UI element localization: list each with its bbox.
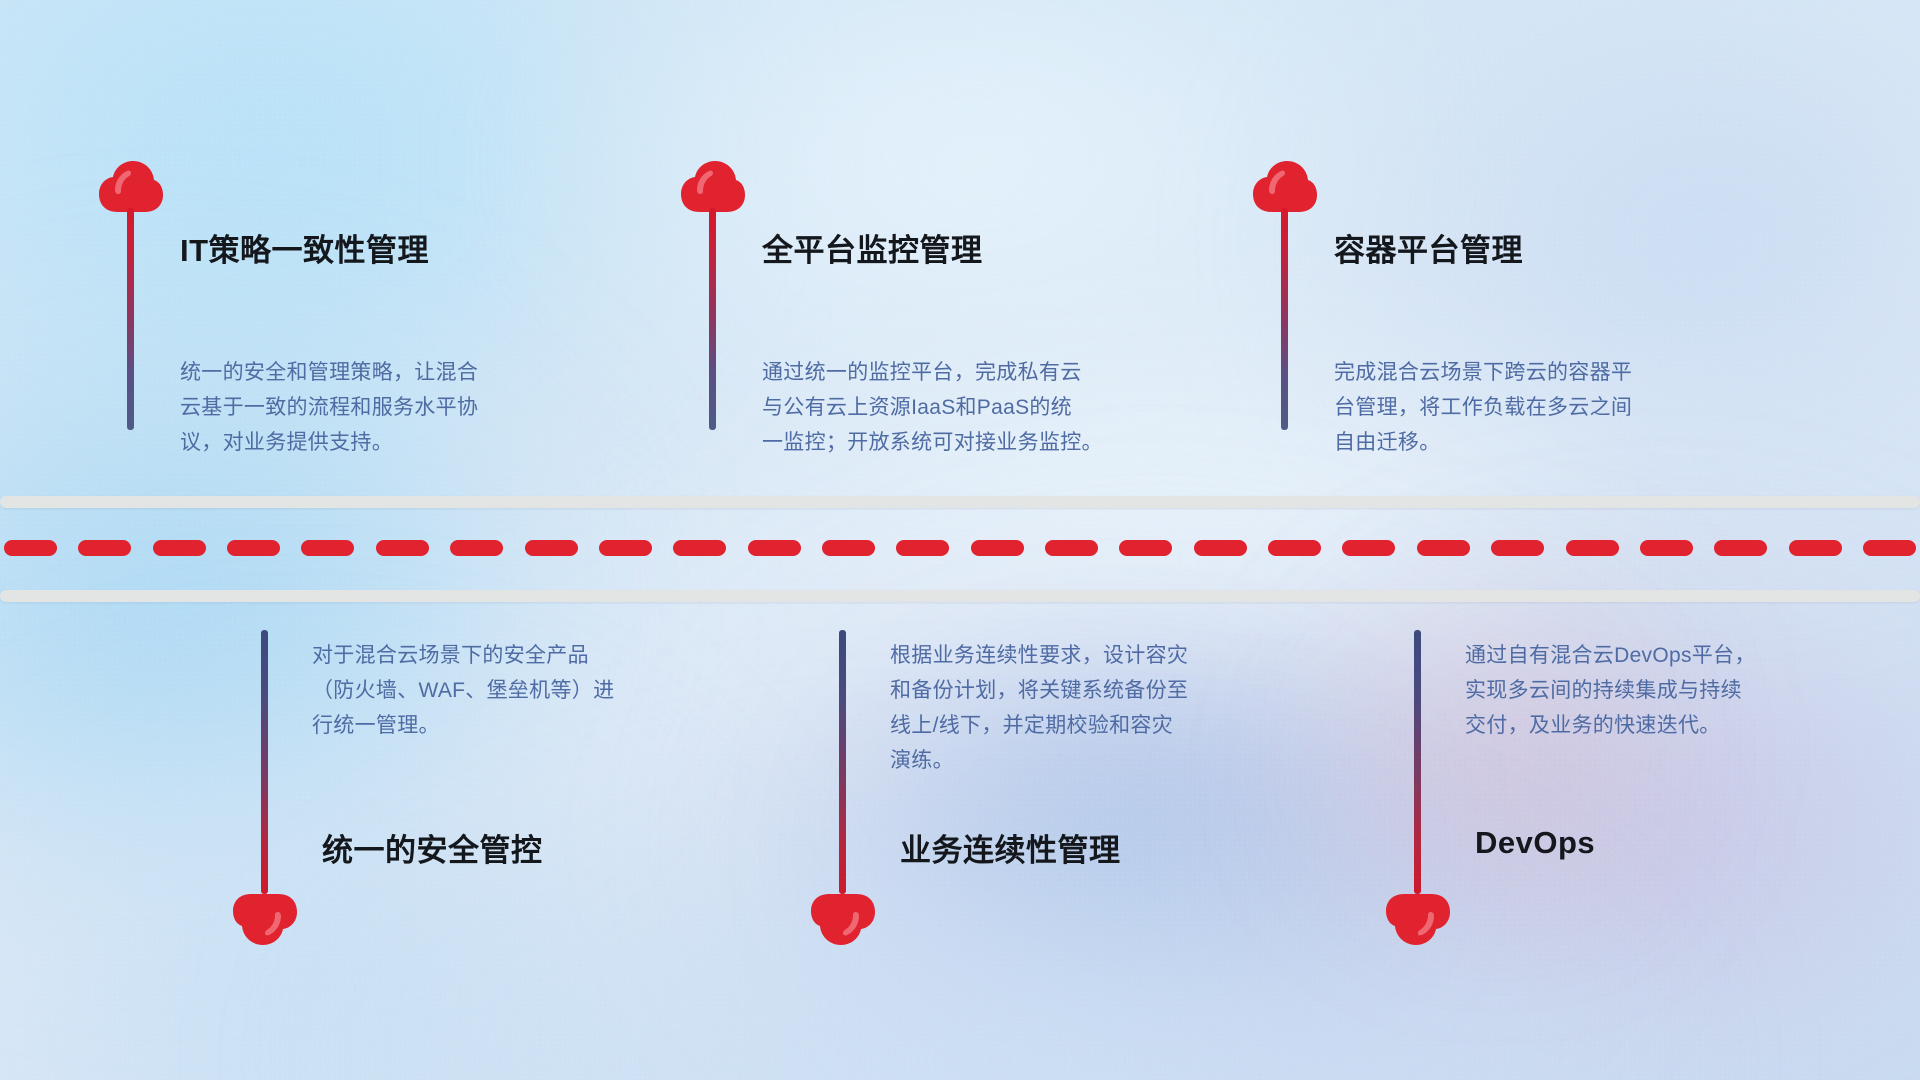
- road-dash: [227, 540, 280, 556]
- marker-pole: [709, 208, 716, 430]
- road-dash: [1194, 540, 1247, 556]
- road-dash: [1640, 540, 1693, 556]
- column-title-it-policy-consistency: IT策略一致性管理: [180, 225, 429, 270]
- column-title-unified-security: 统一的安全管控: [322, 825, 543, 870]
- road-dash: [450, 540, 503, 556]
- cloud-pin-icon: [1385, 892, 1451, 946]
- cloud-pin-icon: [98, 160, 164, 214]
- column-title-business-continuity: 业务连续性管理: [900, 825, 1121, 870]
- cloud-pin-icon: [1252, 160, 1318, 214]
- road-dash: [896, 540, 949, 556]
- road-center-dashes: [0, 540, 1920, 556]
- marker-pole: [1281, 208, 1288, 430]
- road-dash: [971, 540, 1024, 556]
- column-body-business-continuity: 根据业务连续性要求，设计容灾 和备份计划，将关键系统备份至 线上/线下，并定期校…: [890, 638, 1330, 778]
- column-body-full-platform-monitoring: 通过统一的监控平台，完成私有云 与公有云上资源IaaS和PaaS的统 一监控；开…: [762, 355, 1222, 460]
- road-dash: [599, 540, 652, 556]
- road-dash: [301, 540, 354, 556]
- marker-pole: [127, 208, 134, 430]
- road-dash: [1714, 540, 1767, 556]
- road-dash: [1342, 540, 1395, 556]
- road-dash: [376, 540, 429, 556]
- road-dash: [1491, 540, 1544, 556]
- column-title-full-platform-monitoring: 全平台监控管理: [762, 225, 983, 270]
- road-dash: [1417, 540, 1470, 556]
- road-dash: [822, 540, 875, 556]
- cloud-pin-icon: [680, 160, 746, 214]
- road-dash: [1119, 540, 1172, 556]
- marker-pole: [1414, 630, 1421, 894]
- road-edge-top: [0, 496, 1920, 508]
- marker-pole: [839, 630, 846, 894]
- cloud-pin-icon: [232, 892, 298, 946]
- column-body-container-platform: 完成混合云场景下跨云的容器平 台管理，将工作负载在多云之间 自由迁移。: [1334, 355, 1784, 460]
- marker-pole: [261, 630, 268, 894]
- column-body-it-policy-consistency: 统一的安全和管理策略，让混合 云基于一致的流程和服务水平协 议，对业务提供支持。: [180, 355, 620, 460]
- road-edge-bottom: [0, 590, 1920, 602]
- road-dash: [1863, 540, 1916, 556]
- road-dash: [748, 540, 801, 556]
- column-title-devops: DevOps: [1475, 825, 1595, 861]
- road-dash: [1268, 540, 1321, 556]
- road-dash: [673, 540, 726, 556]
- road-dash: [1566, 540, 1619, 556]
- road-dash: [1789, 540, 1842, 556]
- road-dash: [153, 540, 206, 556]
- road-dash: [1045, 540, 1098, 556]
- road-dash: [525, 540, 578, 556]
- road-dash: [4, 540, 57, 556]
- infographic-canvas: IT策略一致性管理 统一的安全和管理策略，让混合 云基于一致的流程和服务水平协 …: [0, 0, 1920, 1080]
- cloud-pin-icon: [810, 892, 876, 946]
- column-title-container-platform: 容器平台管理: [1334, 225, 1523, 270]
- column-body-devops: 通过自有混合云DevOps平台， 实现多云间的持续集成与持续 交付，及业务的快速…: [1465, 638, 1905, 743]
- column-body-unified-security: 对于混合云场景下的安全产品 （防火墙、WAF、堡垒机等）进 行统一管理。: [312, 638, 732, 743]
- road-dash: [78, 540, 131, 556]
